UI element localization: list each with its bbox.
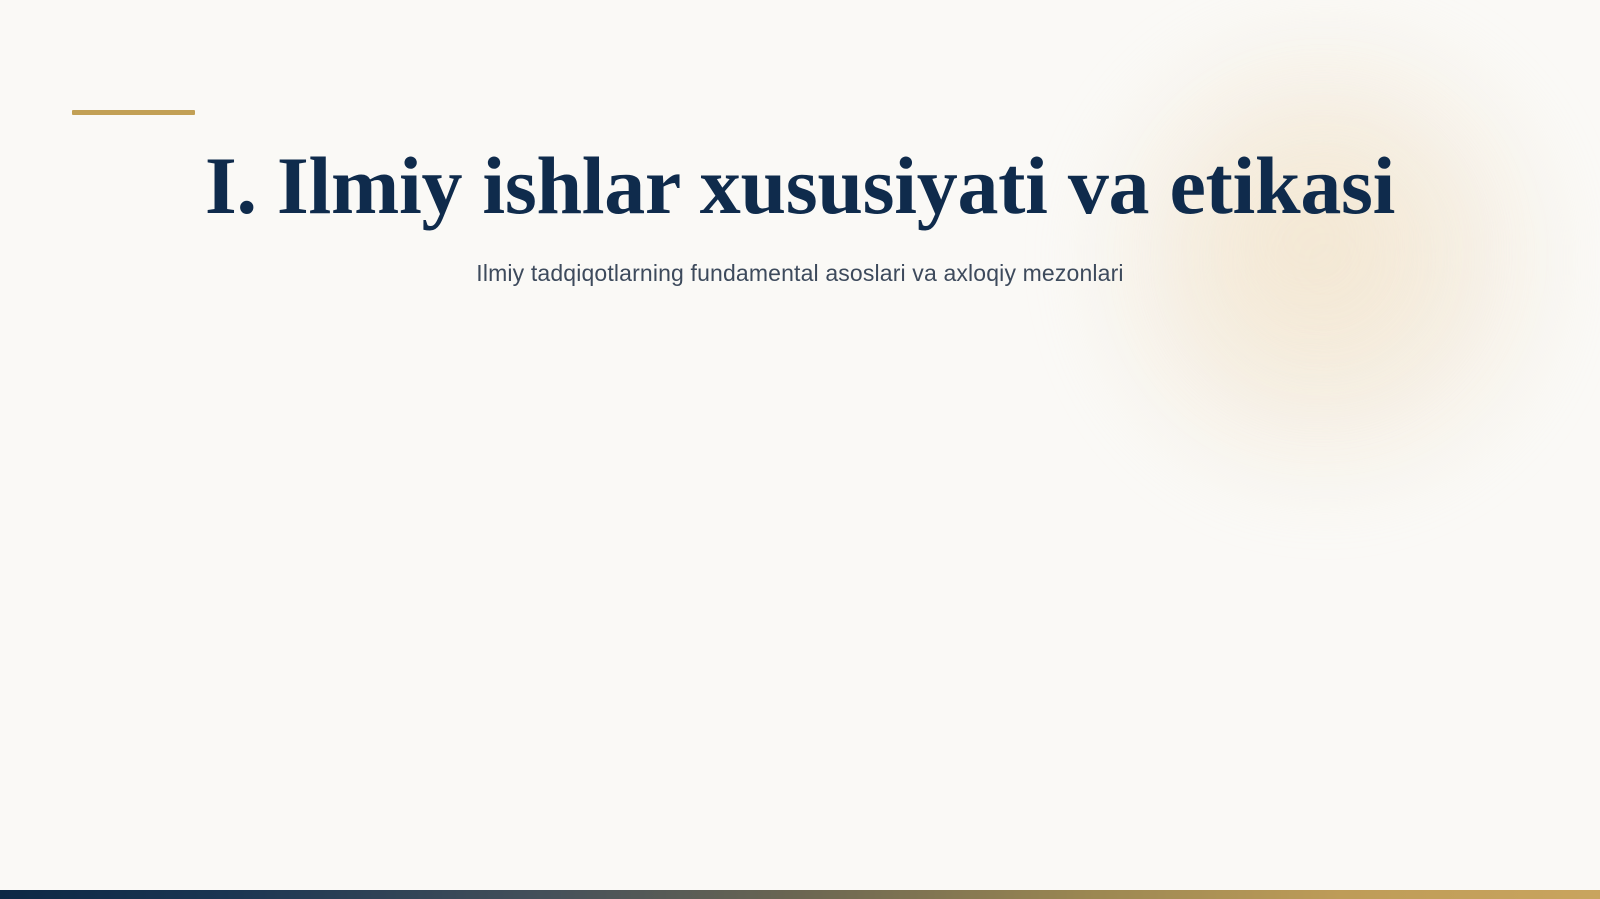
headline-block: I. Ilmiy ishlar xususiyati va etikasi Il… — [0, 143, 1600, 289]
slide-title: I. Ilmiy ishlar xususiyati va etikasi — [0, 143, 1600, 229]
bottom-gradient-bar — [0, 890, 1600, 899]
gold-accent-rule — [72, 110, 195, 115]
slide-body-area — [0, 340, 1600, 890]
slide-subtitle: Ilmiy tadqiqotlarning fundamental asosla… — [0, 229, 1600, 289]
title-slide: I. Ilmiy ishlar xususiyati va etikasi Il… — [0, 0, 1600, 899]
